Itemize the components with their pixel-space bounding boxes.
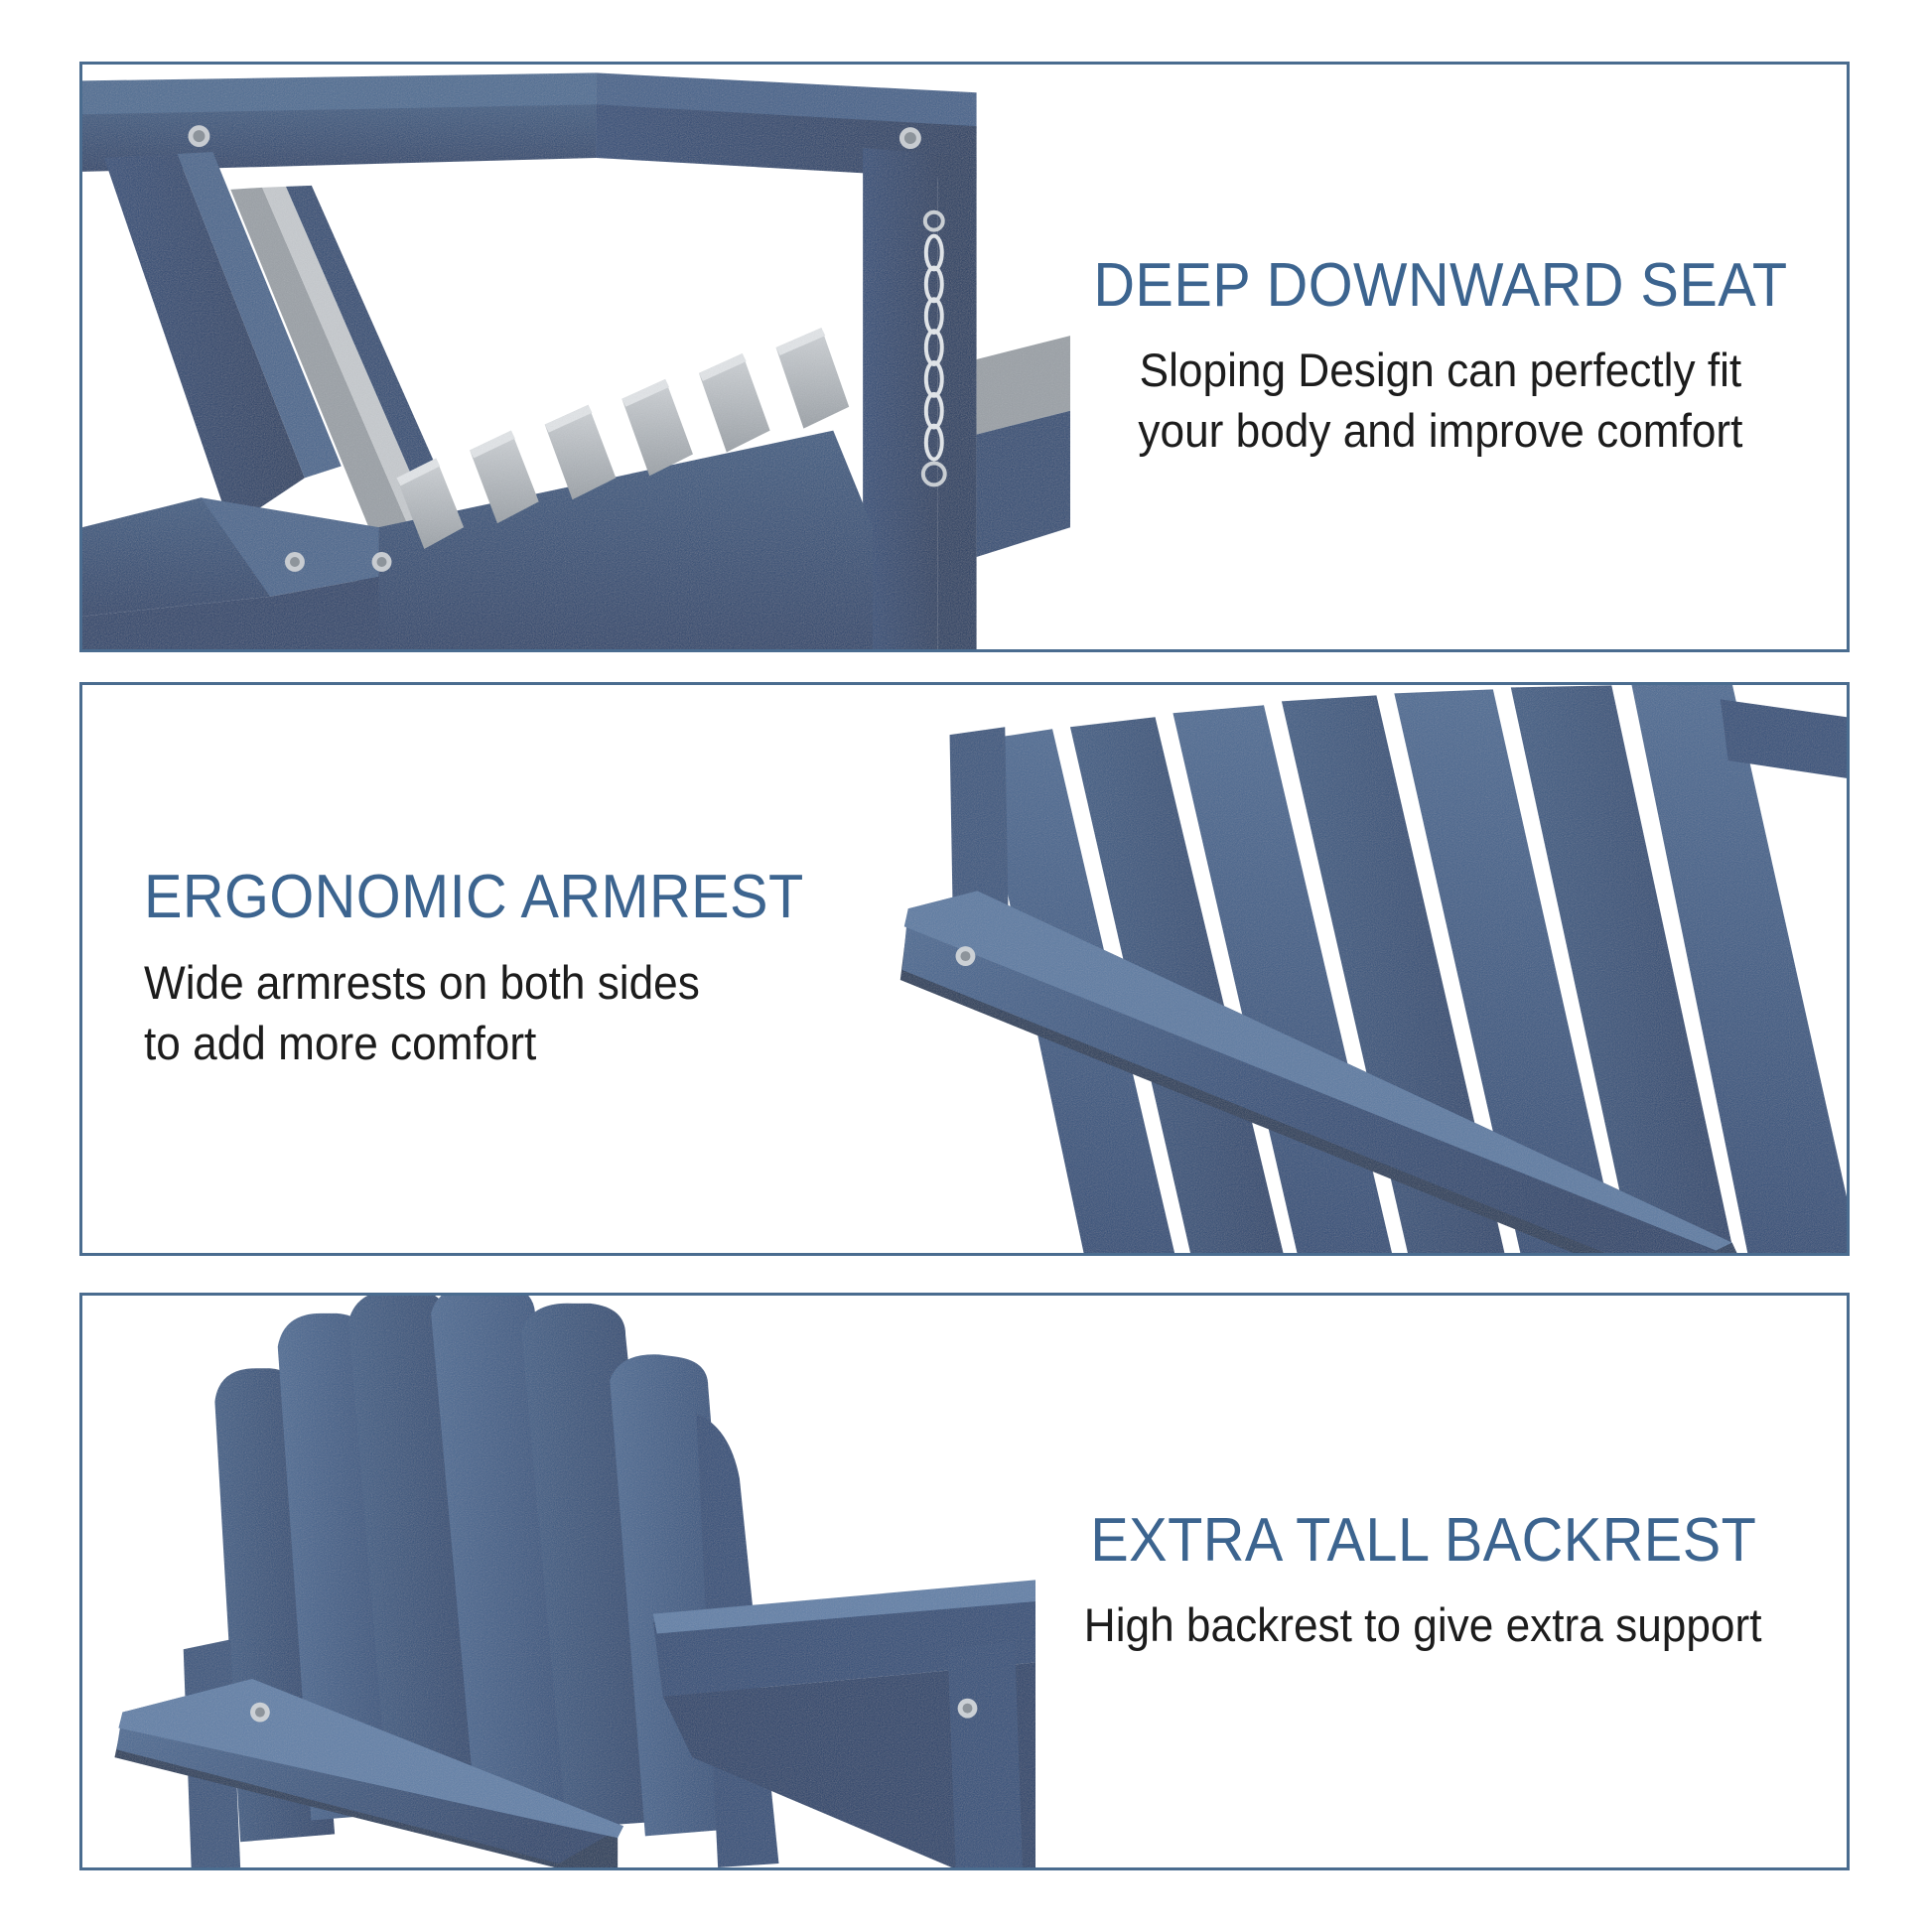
feature-panel-ergonomic-armrest: ERGONOMIC ARMREST Wide armrests on both … [79,682,1850,1256]
feature-subline: Wide armrests on both sides to add more … [144,952,700,1073]
armrest-closeup-illustration [859,685,1847,1253]
feature-copy-ergonomic-armrest: ERGONOMIC ARMREST Wide armrests on both … [82,685,911,1253]
feature-panel-deep-downward-seat: DEEP DOWNWARD SEAT Sloping Design can pe… [79,62,1850,652]
product-photo-ergonomic-armrest [859,685,1847,1253]
feature-headline: ERGONOMIC ARMREST [144,865,804,930]
feature-copy-extra-tall-backrest: EXTRA TALL BACKREST High backrest to giv… [1000,1296,1847,1867]
screw-fasteners [955,946,975,966]
feature-headline: DEEP DOWNWARD SEAT [1094,253,1788,319]
feature-subline-line-2: to add more comfort [144,1017,536,1069]
feature-headline: EXTRA TALL BACKREST [1090,1508,1756,1574]
feature-subline-line-2: your body and improve comfort [1139,404,1743,457]
seat-closeup-illustration [82,65,1070,649]
feature-subline: Sloping Design can perfectly fit your bo… [1139,340,1743,461]
feature-subline-line-1: Wide armrests on both sides [144,956,700,1009]
feature-subline-line-1: Sloping Design can perfectly fit [1140,344,1742,396]
tall-backrest-illustration [82,1296,1035,1867]
feature-subline-line-1: High backrest to give extra support [1084,1598,1762,1651]
product-photo-deep-downward-seat [82,65,1070,649]
product-photo-extra-tall-backrest [82,1296,1035,1867]
feature-subline: High backrest to give extra support [1084,1594,1762,1655]
feature-copy-deep-downward-seat: DEEP DOWNWARD SEAT Sloping Design can pe… [1035,65,1847,649]
feature-panel-extra-tall-backrest: EXTRA TALL BACKREST High backrest to giv… [79,1293,1850,1870]
infographic-sheet: DEEP DOWNWARD SEAT Sloping Design can pe… [0,0,1932,1932]
